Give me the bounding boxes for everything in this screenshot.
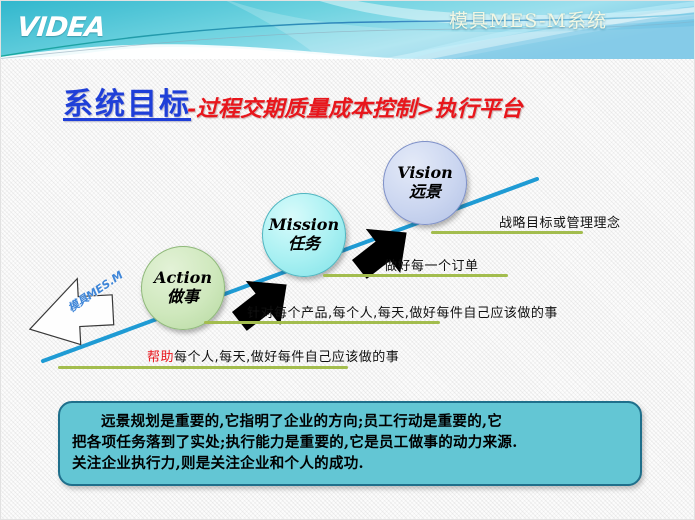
conclusion-box: 远景规划是重要的,它指明了企业的方向;员工行动是重要的,它 把各项任务落到了实处…: [58, 401, 642, 486]
node-mission-en: Mission: [269, 217, 339, 234]
annotation-help-text: 每个人,每天,做好每件自己应该做的事: [174, 350, 399, 365]
goal-diagram: Action 做事 Mission 任务 Vision 远景 模具MES.M 战…: [1, 59, 695, 439]
node-mission[interactable]: Mission 任务: [262, 193, 346, 277]
annotation-order: 做好每一个订单: [384, 255, 479, 274]
node-vision-en: Vision: [397, 165, 453, 182]
node-mission-cn: 任务: [288, 236, 320, 253]
node-vision[interactable]: Vision 远景: [383, 141, 467, 225]
annotation-rule-1: [431, 231, 583, 234]
annotation-strategy: 战略目标或管理理念: [499, 212, 621, 231]
company-logo: VIDEA: [15, 12, 106, 43]
annotation-rule-2: [323, 274, 508, 277]
header-banner: VIDEA 模具MES-M系统: [1, 1, 695, 59]
node-action[interactable]: Action 做事: [141, 246, 225, 330]
conclusion-line-1: 远景规划是重要的,它指明了企业的方向;员工行动是重要的,它: [72, 411, 628, 432]
node-vision-cn: 远景: [409, 184, 441, 201]
annotation-product: 针对每个产品,每个人,每天,做好每件自己应该做的事: [247, 302, 558, 321]
app-title: 模具MES-M系统: [449, 6, 607, 33]
slide-root: VIDEA 模具MES-M系统 系统目标-过程交期质量成本控制>执行平台: [0, 0, 695, 520]
annotation-help: 帮助每个人,每天,做好每件自己应该做的事: [147, 346, 399, 365]
annotation-rule-4: [58, 366, 348, 369]
conclusion-line-2: 把各项任务落到了实处;执行能力是重要的,它是员工做事的动力来源.: [72, 432, 628, 453]
annotation-rule-3: [204, 321, 440, 324]
node-action-cn: 做事: [167, 289, 199, 306]
node-action-en: Action: [154, 270, 212, 287]
diagram-artwork: [1, 59, 695, 439]
annotation-help-highlight: 帮助: [147, 350, 174, 365]
conclusion-line-3: 关注企业执行力,则是关注企业和个人的成功.: [72, 453, 628, 474]
